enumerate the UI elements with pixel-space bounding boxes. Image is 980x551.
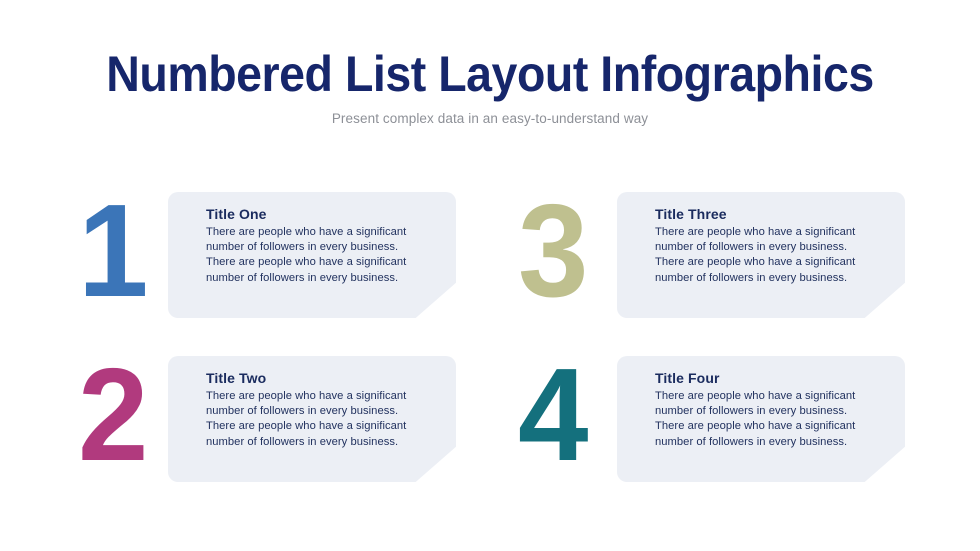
item-title-1: Title One xyxy=(206,205,422,223)
item-card-4[interactable]: Title Four There are people who have a s… xyxy=(617,356,905,482)
list-item-1[interactable]: 1 Title One There are people who have a … xyxy=(78,192,508,318)
item-title-2: Title Two xyxy=(206,369,422,387)
item-text-3: There are people who have a significant … xyxy=(655,225,871,286)
item-body-2: Title Two There are people who have a si… xyxy=(206,369,422,450)
item-text-4: There are people who have a significant … xyxy=(655,389,871,450)
infographic-slide: Numbered List Layout Infographics Presen… xyxy=(0,0,980,551)
item-card-2[interactable]: Title Two There are people who have a si… xyxy=(168,356,456,482)
item-title-4: Title Four xyxy=(655,369,871,387)
item-card-3[interactable]: Title Three There are people who have a … xyxy=(617,192,905,318)
list-item-3[interactable]: 3 Title Three There are people who have … xyxy=(518,192,948,318)
page-title: Numbered List Layout Infographics xyxy=(34,47,945,101)
numbered-list-grid: 1 Title One There are people who have a … xyxy=(0,192,980,482)
list-item-4[interactable]: 4 Title Four There are people who have a… xyxy=(518,356,948,482)
list-item-2[interactable]: 2 Title Two There are people who have a … xyxy=(78,356,508,482)
item-title-3: Title Three xyxy=(655,205,871,223)
item-text-1: There are people who have a significant … xyxy=(206,225,422,286)
item-text-2: There are people who have a significant … xyxy=(206,389,422,450)
slide-header: Numbered List Layout Infographics Presen… xyxy=(0,47,980,127)
item-number-2: 2 xyxy=(78,352,162,482)
item-card-1[interactable]: Title One There are people who have a si… xyxy=(168,192,456,318)
item-number-4: 4 xyxy=(518,352,602,482)
item-body-1: Title One There are people who have a si… xyxy=(206,205,422,286)
item-body-4: Title Four There are people who have a s… xyxy=(655,369,871,450)
item-number-1: 1 xyxy=(78,188,162,318)
page-subtitle: Present complex data in an easy-to-under… xyxy=(0,110,980,127)
item-body-3: Title Three There are people who have a … xyxy=(655,205,871,286)
item-number-3: 3 xyxy=(518,188,602,318)
